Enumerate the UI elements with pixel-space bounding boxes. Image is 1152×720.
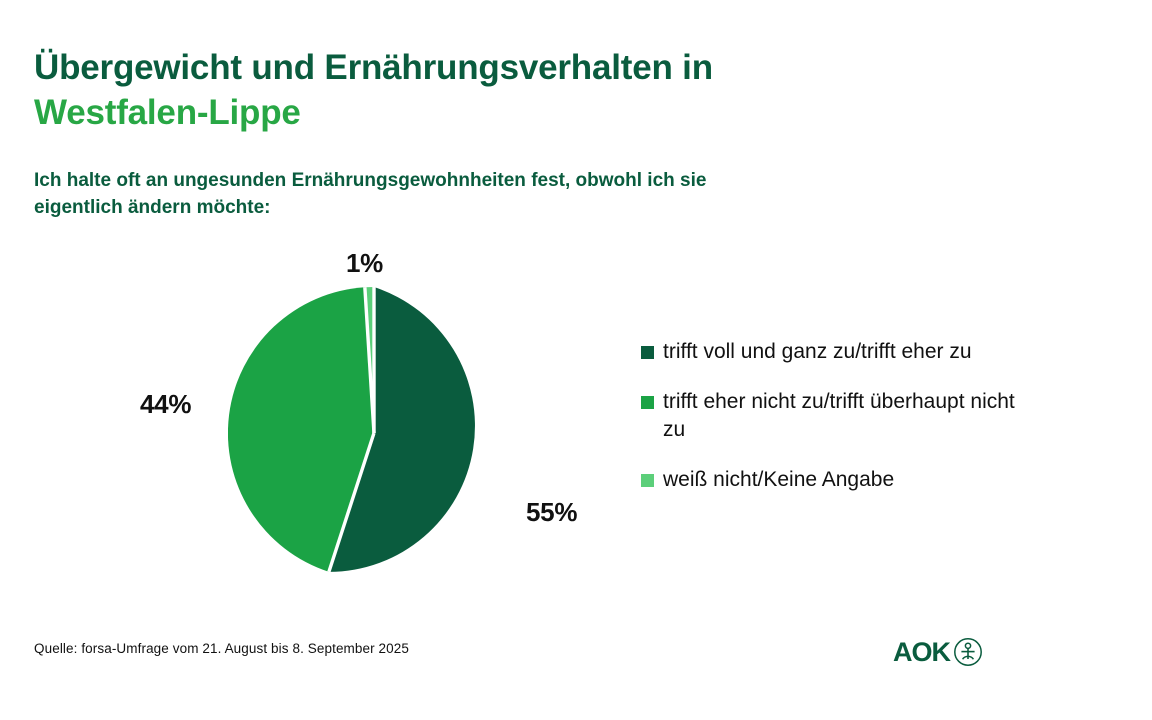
legend-swatch-icon-dark-green bbox=[641, 346, 654, 359]
legend-label-trifft-eher-nicht-zu: trifft eher nicht zu/trifft überhaupt ni… bbox=[663, 388, 1031, 444]
source-note: Quelle: forsa-Umfrage vom 21. August bis… bbox=[34, 641, 409, 656]
infographic-root: Übergewicht und Ernährungsverhalten in W… bbox=[0, 0, 1152, 720]
pie-label-1-percent: 1% bbox=[346, 248, 383, 279]
header: Übergewicht und Ernährungsverhalten in W… bbox=[34, 46, 1034, 136]
title-line-2: Westfalen-Lippe bbox=[34, 91, 1034, 136]
pie-label-55-percent: 55% bbox=[526, 497, 577, 528]
pie-svg bbox=[228, 287, 520, 579]
legend-item-weiss-nicht: weiß nicht/Keine Angabe bbox=[641, 466, 1031, 494]
legend-item-trifft-voll-und-ganz: trifft voll und ganz zu/trifft eher zu bbox=[641, 338, 1031, 366]
legend-swatch-icon-mid-green bbox=[641, 396, 654, 409]
legend-swatch-icon-light-green bbox=[641, 474, 654, 487]
page-title: Übergewicht und Ernährungsverhalten in W… bbox=[34, 46, 1034, 136]
chart-question-subtitle: Ich halte oft an ungesunden Ernährungsge… bbox=[34, 168, 924, 222]
aok-plant-emblem-icon bbox=[953, 637, 983, 667]
legend-label-weiss-nicht: weiß nicht/Keine Angabe bbox=[663, 466, 894, 494]
subtitle-line-2: eigentlich ändern möchte: bbox=[34, 195, 924, 222]
pie-chart-graphic bbox=[228, 287, 520, 579]
legend-item-trifft-eher-nicht-zu: trifft eher nicht zu/trifft überhaupt ni… bbox=[641, 388, 1031, 444]
pie-label-44-percent: 44% bbox=[140, 389, 191, 420]
chart-legend: trifft voll und ganz zu/trifft eher zu t… bbox=[641, 338, 1031, 494]
aok-wordmark: AOK bbox=[893, 639, 950, 666]
legend-label-trifft-voll-und-ganz: trifft voll und ganz zu/trifft eher zu bbox=[663, 338, 972, 366]
title-line-1: Übergewicht und Ernährungsverhalten in bbox=[34, 46, 1034, 91]
pie-chart: 1% 44% 55% bbox=[210, 248, 630, 618]
aok-logo: AOK bbox=[893, 637, 983, 667]
subtitle-line-1: Ich halte oft an ungesunden Ernährungsge… bbox=[34, 168, 924, 195]
